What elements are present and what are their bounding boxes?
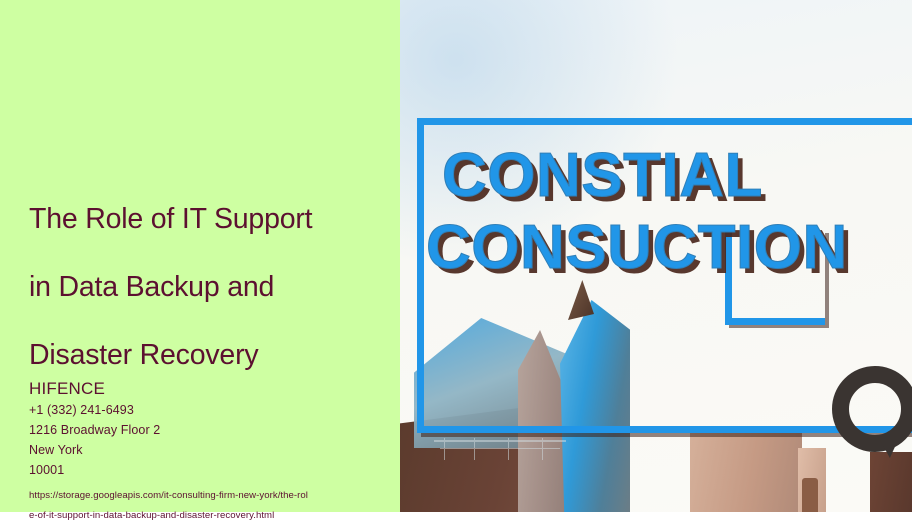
company-contact-details: +1 (332) 241-6493 1216 Broadway Floor 2 … [29, 400, 374, 480]
source-url-line-2: e-of-it-support-in-data-backup-and-disas… [29, 506, 374, 526]
poster-headline-line-1: CONSTIAL [442, 141, 763, 210]
poster-headline: CONSTIAL CONSUCTION [442, 140, 912, 284]
page-title: The Role of IT Support in Data Backup an… [29, 168, 374, 372]
scaffold-lines [434, 438, 574, 464]
article-title-line-2: in Data Backup and [29, 271, 274, 303]
article-preview-card: The Role of IT Support in Data Backup an… [0, 0, 912, 512]
ring-glyph-icon [832, 366, 912, 452]
article-title-line-1: The Role of IT Support [29, 203, 312, 235]
building-far-right [870, 452, 912, 512]
info-content: The Role of IT Support in Data Backup an… [29, 168, 374, 526]
article-image-panel: CONSTIAL CONSUCTION [400, 0, 912, 512]
source-url-line-1: https://storage.googleapis.com/it-consul… [29, 486, 374, 506]
company-name: HIFENCE [29, 378, 374, 400]
source-url[interactable]: https://storage.googleapis.com/it-consul… [29, 486, 374, 526]
company-phone: +1 (332) 241-6493 [29, 400, 374, 420]
article-title-line-3: Disaster Recovery [29, 339, 258, 371]
company-city: New York [29, 440, 374, 460]
poster-illustration: CONSTIAL CONSUCTION [400, 0, 912, 512]
building-tan-right [690, 432, 802, 512]
info-panel: The Role of IT Support in Data Backup an… [0, 0, 400, 512]
company-street-address: 1216 Broadway Floor 2 [29, 420, 374, 440]
poster-headline-line-2: CONSUCTION [426, 212, 912, 284]
company-postal-code: 10001 [29, 460, 374, 480]
post-marker [802, 478, 818, 512]
